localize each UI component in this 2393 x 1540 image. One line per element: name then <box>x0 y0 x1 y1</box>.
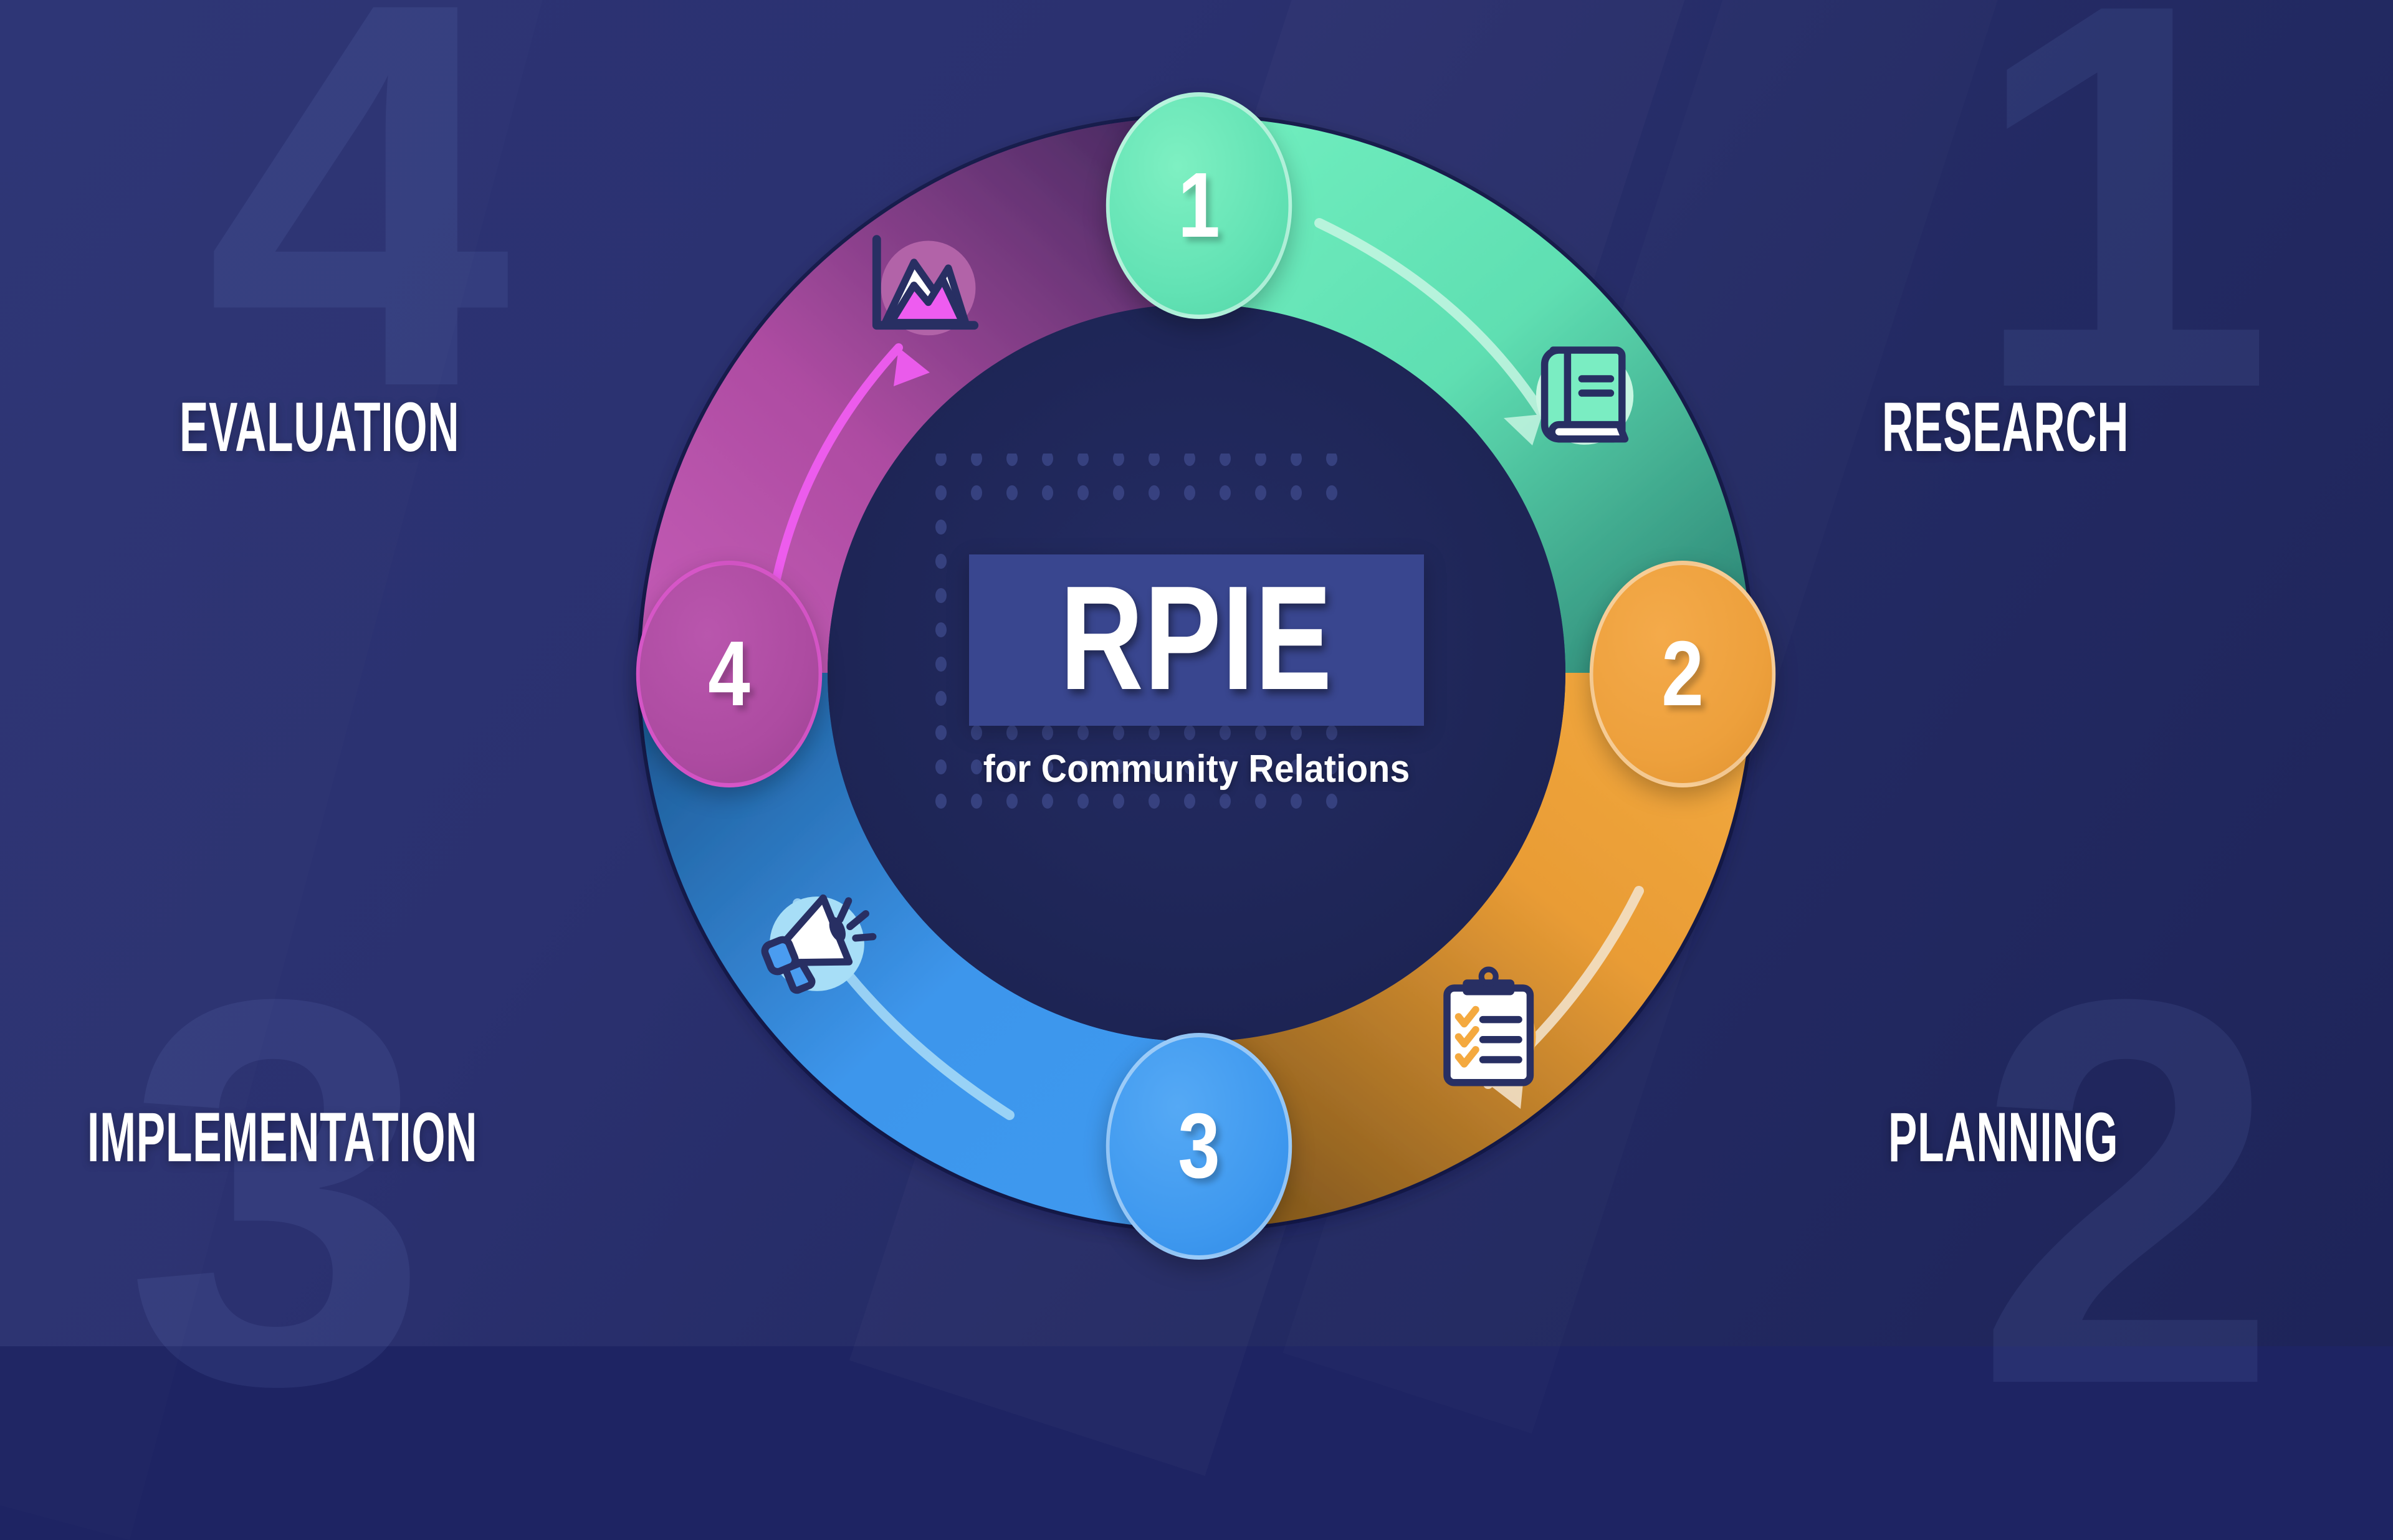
stage-label-implementation: IMPLEMENTATION <box>87 1103 477 1172</box>
megaphone-icon <box>745 872 889 1015</box>
rpie-subtitle: for Community Relations <box>983 747 1410 791</box>
area-chart-icon <box>854 219 997 363</box>
watermark-numeral-4: 4 <box>206 0 500 409</box>
watermark-numeral-3: 3 <box>125 979 419 1406</box>
stage-badge-3[interactable]: 3 <box>1106 1033 1292 1260</box>
stage-badge-3-number: 3 <box>1178 1100 1220 1192</box>
rpie-acronym: RPIE <box>1060 571 1333 707</box>
watermark-numeral-2: 2 <box>1974 979 2268 1406</box>
stage-label-evaluation: EVALUATION <box>179 392 459 462</box>
stage-badge-4-number: 4 <box>708 628 750 720</box>
stage-badge-4[interactable]: 4 <box>636 561 822 787</box>
stage-label-research: RESEARCH <box>1882 392 2129 462</box>
stage-badge-1-number: 1 <box>1178 159 1220 252</box>
stage-label-planning: PLANNING <box>1888 1103 2118 1172</box>
stage-badge-2[interactable]: 2 <box>1590 561 1775 787</box>
clipboard-checklist-icon <box>1418 959 1562 1103</box>
stage-badge-1[interactable]: 1 <box>1106 92 1292 319</box>
book-icon <box>1513 321 1656 465</box>
rpie-banner: RPIE <box>969 554 1423 726</box>
stage-badge-2-number: 2 <box>1661 628 1703 720</box>
watermark-numeral-1: 1 <box>1969 0 2263 410</box>
center-content: RPIE for Community Relations <box>885 436 1508 910</box>
